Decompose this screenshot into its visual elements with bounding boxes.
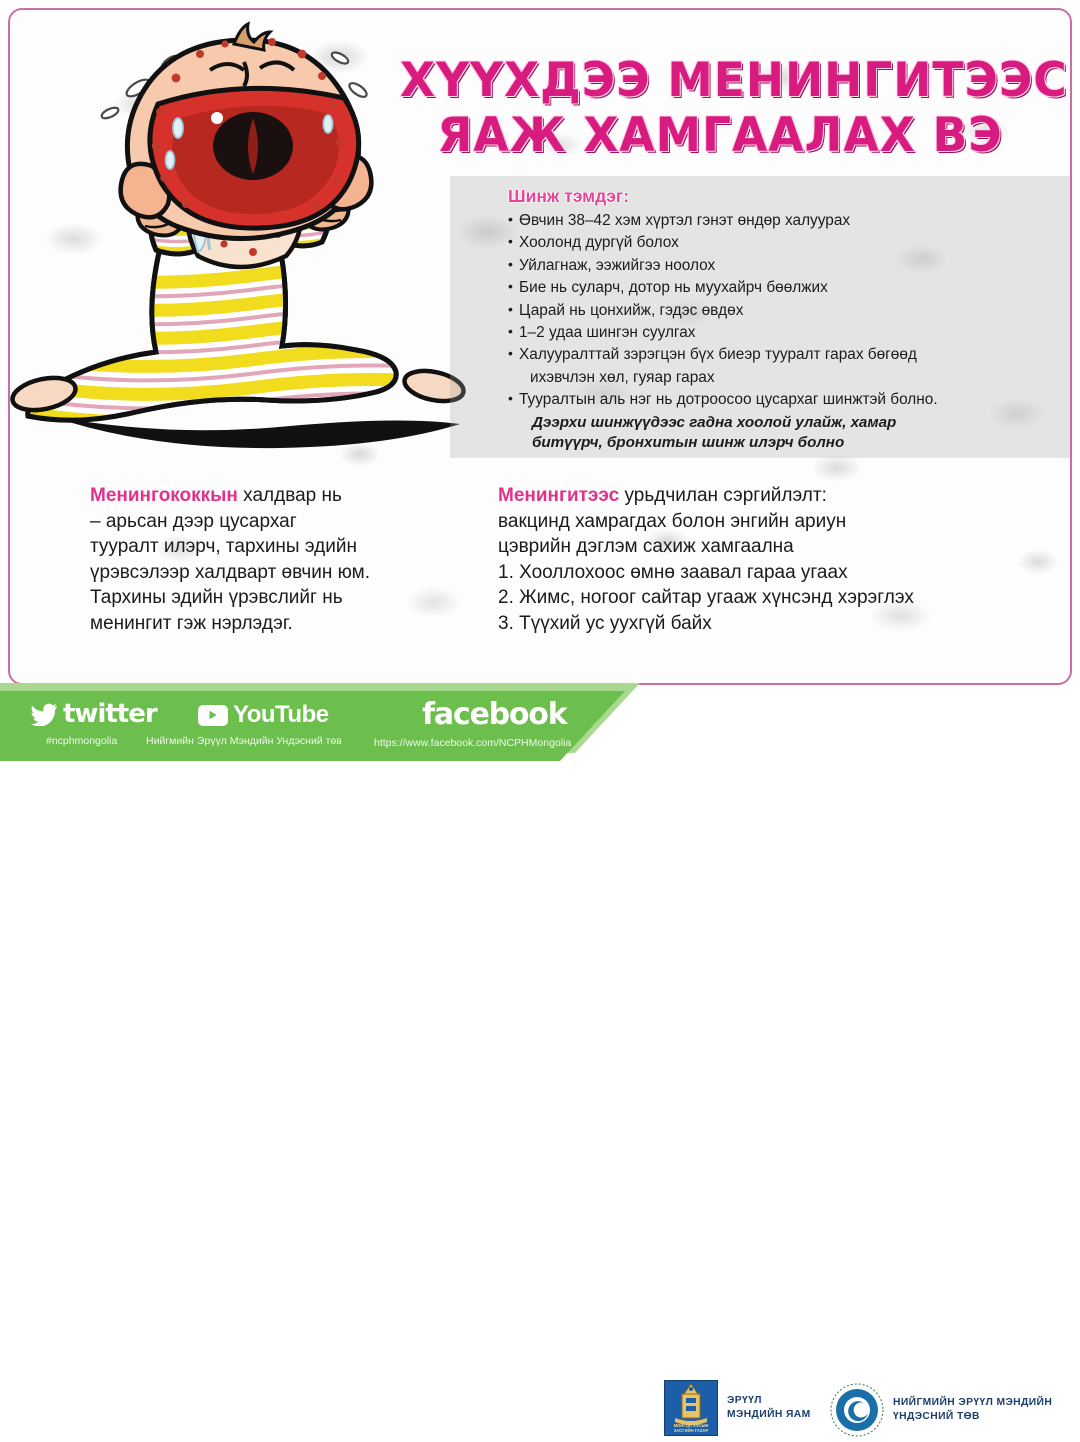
symptom-item: 1–2 удаа шингэн суулгах <box>508 322 1064 344</box>
twitter-logo[interactable]: twitter <box>30 699 157 729</box>
youtube-block[interactable]: YouTube Нийгмийн Эрүүл Мэндийн Ундэсний … <box>198 701 329 729</box>
footer-bar: twitter #ncphmongolia YouTube Нийгмийн Э… <box>0 683 1080 761</box>
prevention-column: Менингитээс урьдчилан сэргийлэлт: вакцин… <box>498 483 1072 636</box>
prevention-step: 3. Түүхий ус уухгүй байх <box>498 611 1072 637</box>
ministry-of-health-logo: МОНГОЛ УЛСЫН ЗАСГИЙН ГАЗАР ЭРҮҮЛ МЭНДИЙН… <box>664 1380 811 1436</box>
symptoms-list: Өвчин 38–42 хэм хүртэл гэнэт өндөр халуу… <box>508 210 1064 412</box>
poster-root: ХҮҮХДЭЭ МЕНИНГИТЭЭС ЯАЖ ХАМГААЛАХ ВЭ Шин… <box>0 0 1080 761</box>
youtube-label: YouTube <box>233 701 329 729</box>
ministry-name: ЭРҮҮЛ МЭНДИЙН ЯАМ <box>727 1394 811 1422</box>
definition-line: – арьсан дээр цусархаг <box>90 509 490 535</box>
definition-line: менингит гэж нэрлэдэг. <box>90 611 490 637</box>
youtube-logo[interactable]: YouTube <box>198 701 329 729</box>
definition-line: тууралт илэрч, тархины эдийн <box>90 534 490 560</box>
symptoms-note-line: Дээрхи шинжүүдээс гадна хоолой улайж, ха… <box>532 413 1064 434</box>
facebook-logo[interactable]: facebook <box>422 697 566 732</box>
facebook-block[interactable]: facebook https://www.facebook.com/NCPHMo… <box>422 697 566 732</box>
prevention-step: 2. Жимс, ногоог сайтар угааж хүнсэнд хэр… <box>498 585 1072 611</box>
prevention-step: 1. Хооллохоос өмнө заавал гараа угаах <box>498 560 1072 586</box>
ncph-name-line: ҮНДЭСНИЙ ТӨВ <box>893 1410 1052 1424</box>
definition-first-line: Менингококкын халдвар нь <box>90 483 490 509</box>
facebook-url: https://www.facebook.com/NCPHMongolia <box>374 737 571 749</box>
twitter-block[interactable]: twitter #ncphmongolia <box>30 699 157 729</box>
symptoms-panel: Шинж тэмдэг: Өвчин 38–42 хэм хүртэл гэнэ… <box>450 176 1072 458</box>
symptom-item: Царай нь цонхийж, гэдэс өвдөх <box>508 300 1064 322</box>
prevention-first-line: Менингитээс урьдчилан сэргийлэлт: <box>498 483 1072 509</box>
mouth-highlight <box>211 112 223 124</box>
poster-content-frame: ХҮҮХДЭЭ МЕНИНГИТЭЭС ЯАЖ ХАМГААЛАХ ВЭ Шин… <box>8 8 1072 685</box>
definition-column: Менингококкын халдвар нь – арьсан дээр ц… <box>90 483 490 636</box>
prevention-line: урьдчилан сэргийлэлт: <box>619 485 827 506</box>
ncph-logo: НИЙГМИЙН ЭРҮҮЛ МЭНДИЙН ҮНДЭСНИЙ ТӨВ <box>830 1383 1052 1437</box>
social-links-row: twitter #ncphmongolia YouTube Нийгмийн Э… <box>0 691 625 761</box>
definition-line: Тархины эдийн үрэвслийг нь <box>90 585 490 611</box>
page-title: ХҮҮХДЭЭ МЕНИНГИТЭЭС ЯАЖ ХАМГААЛАХ ВЭ <box>400 54 1040 163</box>
definition-line: халдвар нь <box>238 485 342 506</box>
symptom-item: Тууралтын аль нэг нь дотроосоо цусархаг … <box>508 389 1064 411</box>
youtube-play-icon <box>198 705 228 726</box>
symptom-item: Хоолонд дургүй болох <box>508 232 1064 254</box>
prevention-line: цэврийн дэглэм сахиж хамгаална <box>498 534 1072 560</box>
definition-line: үрэвсэлээр халдварт өвчин юм. <box>90 560 490 586</box>
symptom-item: Халууралттай зэрэгцэн бүх биеэр тууралт … <box>508 344 1064 366</box>
definition-lead: Менингококкын <box>90 485 238 506</box>
youtube-channel-name: Нийгмийн Эрүүл Мэндийн Ундэсний төв <box>146 735 342 747</box>
symptom-item-continuation: ихэвчлэн хөл, гуяар гарах <box>508 367 1064 389</box>
ncph-emblem-icon <box>830 1383 884 1437</box>
government-emblem-icon: МОНГОЛ УЛСЫН ЗАСГИЙН ГАЗАР <box>664 1380 718 1436</box>
symptoms-note: Дээрхи шинжүүдээс гадна хоолой улайж, ха… <box>532 413 1064 454</box>
baby-onesie <box>10 248 480 422</box>
ministry-name-line: ЭРҮҮЛ <box>727 1394 811 1408</box>
ncph-name: НИЙГМИЙН ЭРҮҮЛ МЭНДИЙН ҮНДЭСНИЙ ТӨВ <box>893 1396 1052 1424</box>
symptom-item: Бие нь суларч, дотор нь муухайрч бөөлжих <box>508 277 1064 299</box>
prevention-steps-list: 1. Хооллохоос өмнө заавал гараа угаах 2.… <box>498 560 1072 637</box>
title-line-2: ЯАЖ ХАМГААЛАХ ВЭ <box>400 109 1040 164</box>
ncph-name-line: НИЙГМИЙН ЭРҮҮЛ МЭНДИЙН <box>893 1396 1052 1410</box>
government-emblem-caption: МОНГОЛ УЛСЫН ЗАСГИЙН ГАЗАР <box>665 1423 717 1434</box>
prevention-lead: Менингитээс <box>498 485 619 506</box>
symptom-item: Уйлагнаж, ээжийгээ ноолох <box>508 255 1064 277</box>
ministry-name-line: МЭНДИЙН ЯАМ <box>727 1408 811 1422</box>
ground-shadow <box>50 416 460 448</box>
symptoms-note-line: битүүрч, бронхитын шинж илэрч болно <box>532 433 1064 454</box>
symptom-item: Өвчин 38–42 хэм хүртэл гэнэт өндөр халуу… <box>508 210 1064 232</box>
prevention-line: вакцинд хамрагдах болон энгийн ариун <box>498 509 1072 535</box>
title-line-1: ХҮҮХДЭЭ МЕНИНГИТЭЭС <box>400 54 1040 109</box>
twitter-bird-icon <box>30 703 58 726</box>
facebook-label: facebook <box>422 697 566 732</box>
symptoms-heading: Шинж тэмдэг: <box>508 186 1064 207</box>
twitter-label: twitter <box>63 699 157 729</box>
twitter-handle: #ncphmongolia <box>46 735 117 747</box>
